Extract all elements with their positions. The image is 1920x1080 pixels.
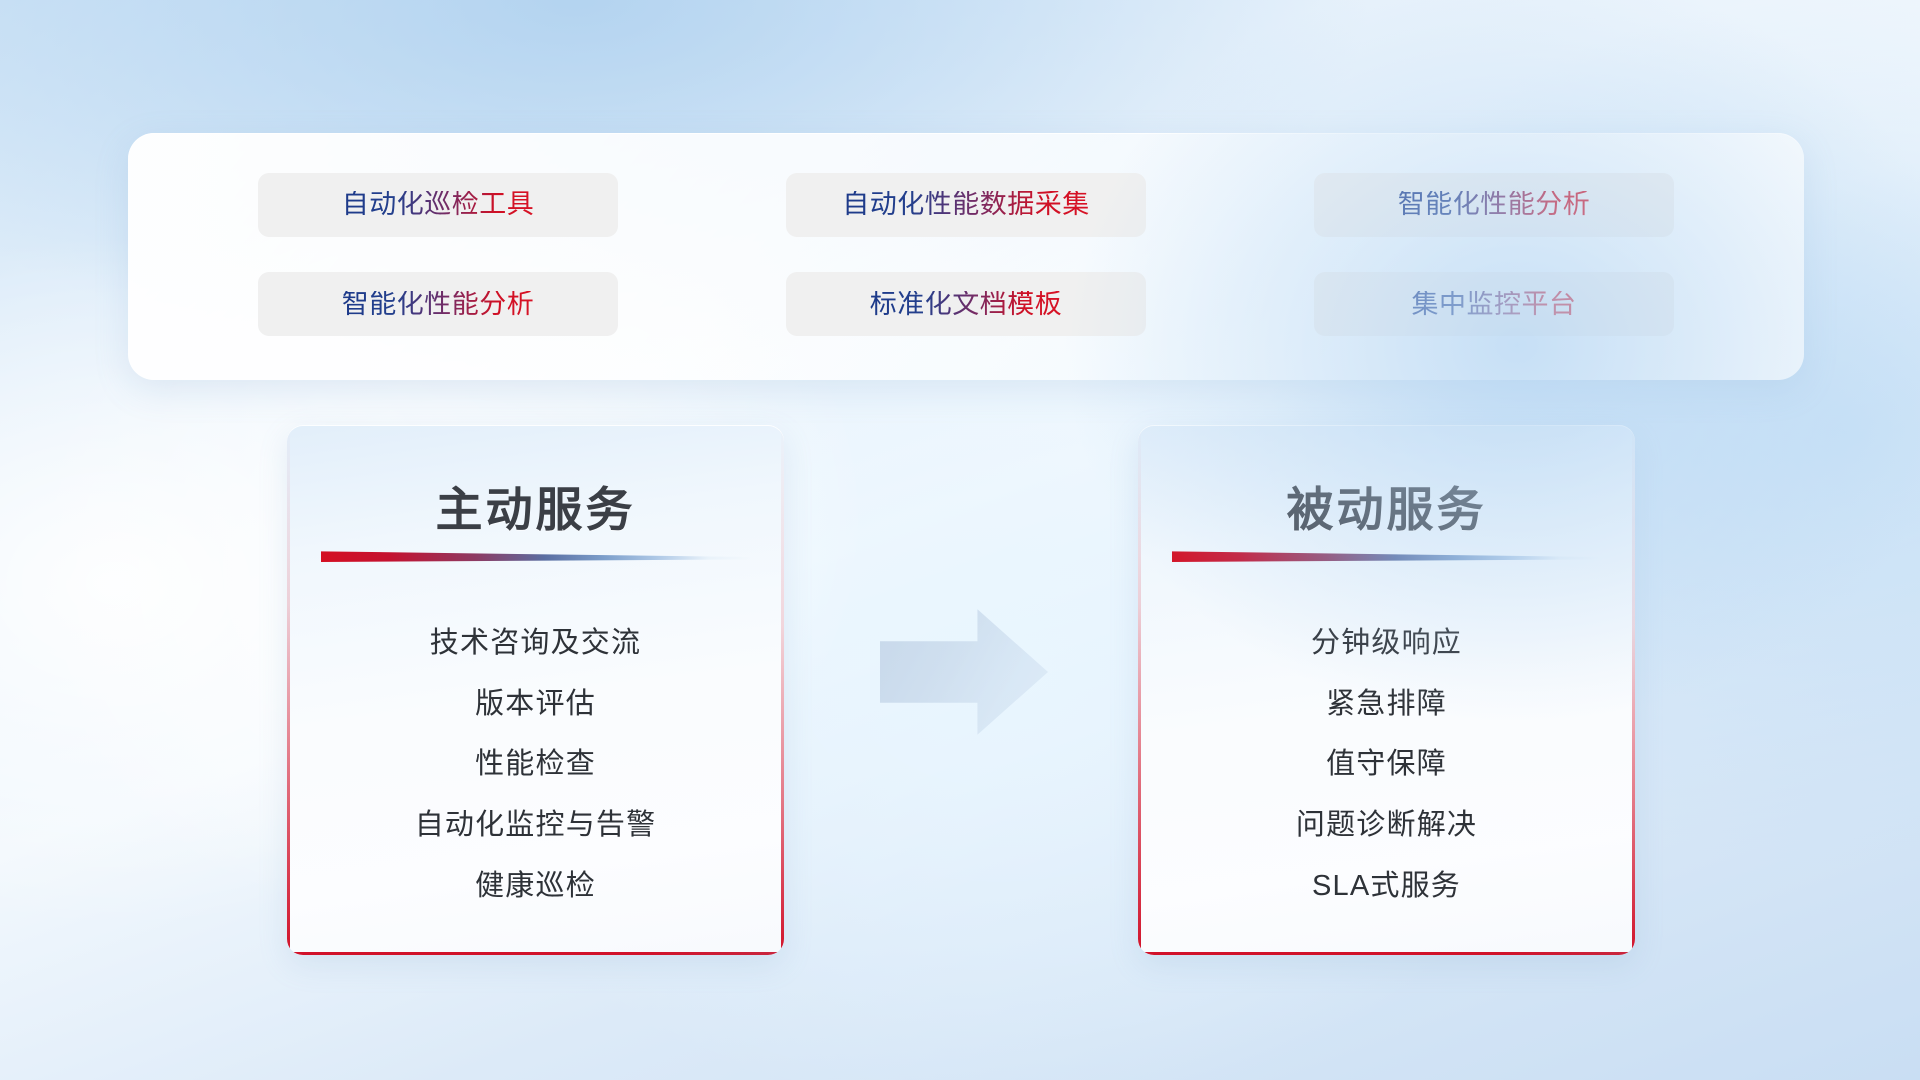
service-item-list: 分钟级响应 紧急排障 值守保障 问题诊断解决 SLA式服务 [1138,597,1635,933]
capability-pill-5[interactable]: 标准化文档模板 [786,272,1146,336]
capability-pill-4[interactable]: 智能化性能分析 [258,272,618,336]
service-item: 值守保障 [1326,750,1447,779]
card-bottom-accent [1138,952,1635,955]
capability-pill-2[interactable]: 自动化性能数据采集 [786,173,1146,237]
service-card-reactive: 被动服务 分钟级响应 紧急排障 值守保障 问题诊断解决 SLA式服务 [1138,425,1635,955]
service-item: 分钟级响应 [1311,629,1462,658]
service-item: 技术咨询及交流 [430,629,641,658]
service-item: 紧急排障 [1326,690,1447,719]
service-item: 问题诊断解决 [1296,811,1477,840]
card-title: 主动服务 [287,471,784,540]
capability-pill-label: 集中监控平台 [1412,291,1577,318]
service-item: 自动化监控与告警 [415,811,657,840]
capability-pill-label: 标准化文档模板 [870,291,1063,318]
infographic-canvas: 自动化巡检工具 自动化性能数据采集 智能化性能分析 智能化性能分析 标准化文档模… [0,0,1920,1080]
capability-pill-label: 自动化性能数据采集 [842,191,1090,218]
service-item: SLA式服务 [1312,872,1461,901]
flow-arrow-right-icon [880,608,1048,736]
service-card-proactive: 主动服务 技术咨询及交流 版本评估 性能检查 自动化监控与告警 健康巡检 [287,425,784,955]
capability-pill-label: 智能化性能分析 [342,291,535,318]
capability-pill-label: 智能化性能分析 [1398,191,1591,218]
title-divider [321,549,751,562]
service-item-list: 技术咨询及交流 版本评估 性能检查 自动化监控与告警 健康巡检 [287,597,784,933]
service-item: 版本评估 [475,690,596,719]
title-divider [1172,549,1602,562]
capability-pill-label: 自动化巡检工具 [342,191,535,218]
capability-panel: 自动化巡检工具 自动化性能数据采集 智能化性能分析 智能化性能分析 标准化文档模… [128,133,1804,380]
card-title: 被动服务 [1138,471,1635,540]
card-bottom-accent [287,952,784,955]
service-item: 性能检查 [475,750,596,779]
capability-pill-6[interactable]: 集中监控平台 [1314,272,1674,336]
capability-pill-3[interactable]: 智能化性能分析 [1314,173,1674,237]
capability-pill-1[interactable]: 自动化巡检工具 [258,173,618,237]
service-item: 健康巡检 [475,872,596,901]
